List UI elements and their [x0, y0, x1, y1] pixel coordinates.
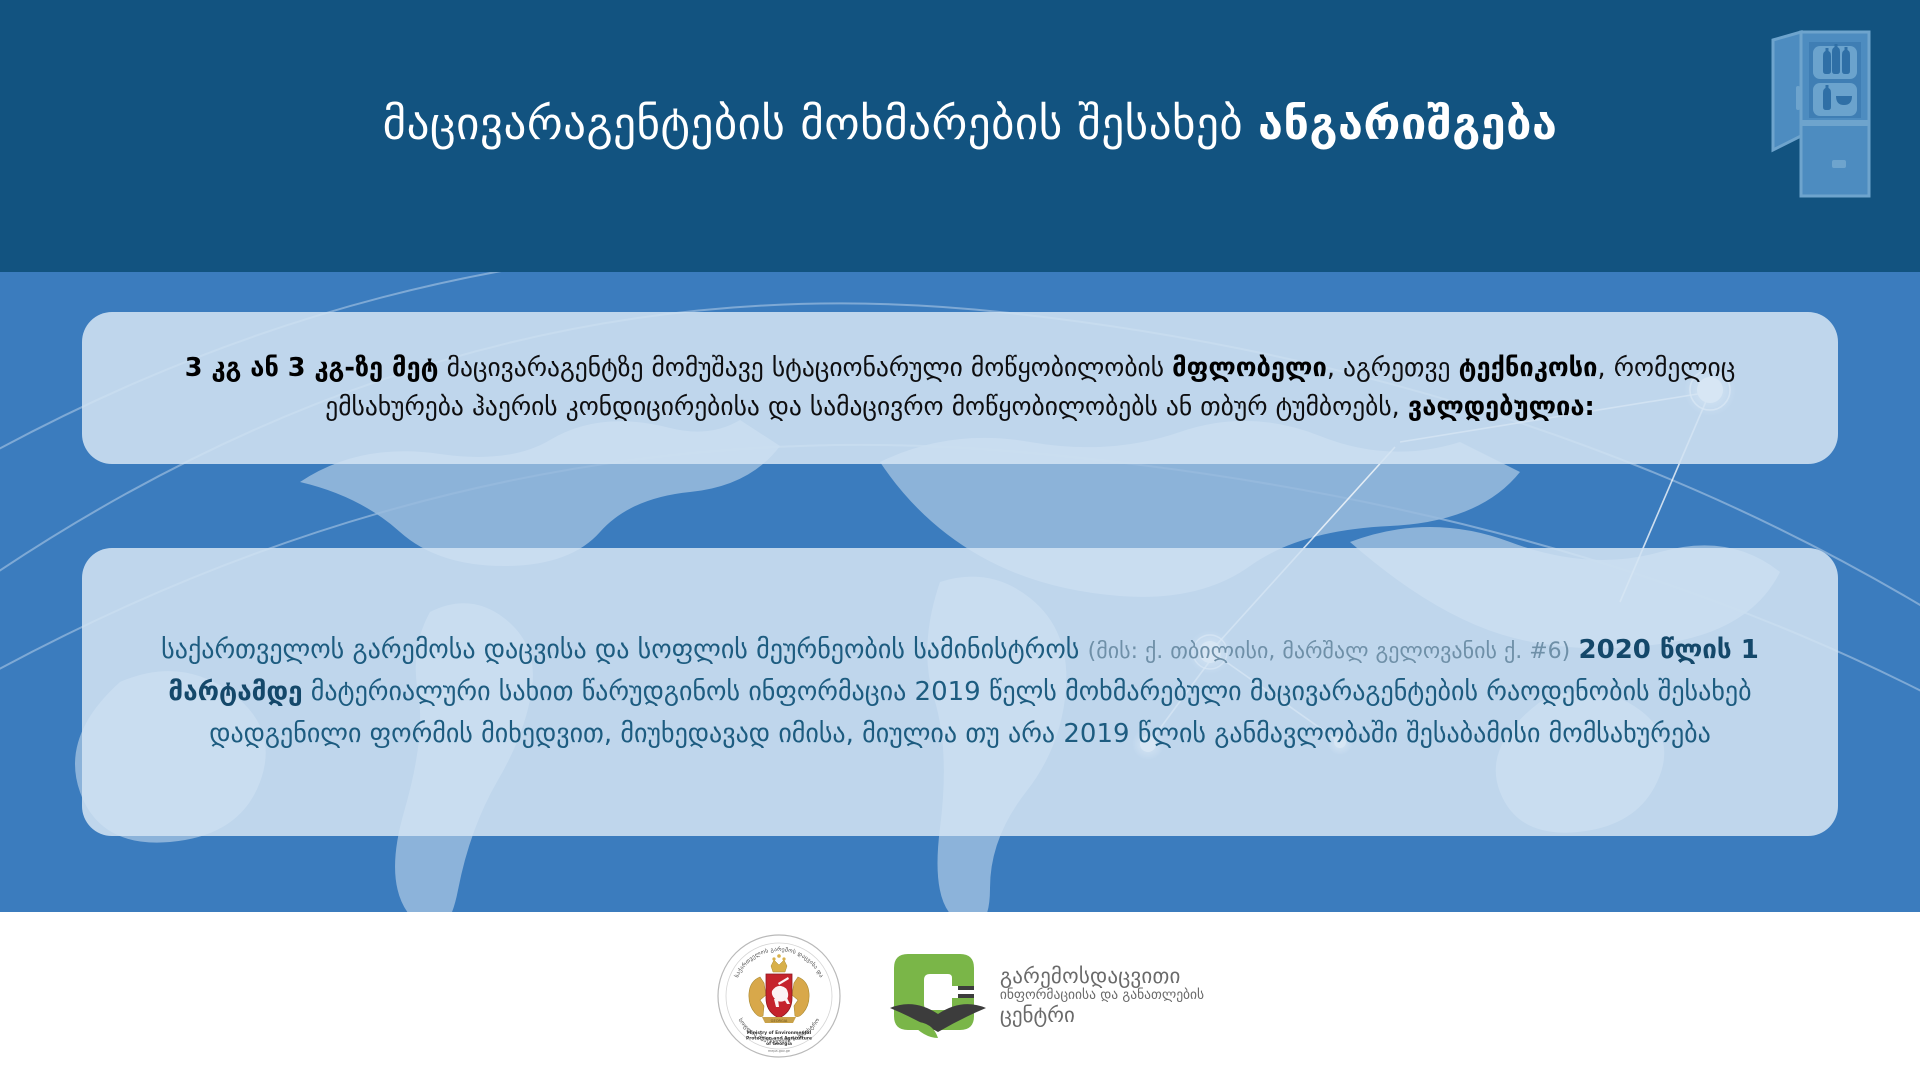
eiec-line-2: ინფორმაციისა და განათლების: [1000, 988, 1204, 1003]
requirement-card: 3 კგ ან 3 კგ-ზე მეტ მაცივარაგენტზე მომუშ…: [82, 312, 1838, 464]
footer-logos: საქართველოს გარემოს დაცვისა და სოფლის მე…: [0, 912, 1920, 1080]
instruction-seg-1: საქართველოს გარემოსა დაცვისა და სოფლის მ…: [161, 635, 1087, 665]
page-title-bold: ანგარიშგება: [1258, 97, 1557, 150]
page-title-regular: მაცივარაგენტების მოხმარების შესახებ: [383, 97, 1258, 150]
header-banner: მაცივარაგენტების მოხმარების შესახებ ანგა…: [0, 0, 1920, 272]
eiec-line-1: გარემოსდაცვითი: [1000, 965, 1204, 989]
requirement-technician: ტექნიკოსი: [1459, 353, 1598, 383]
ministry-seal-logo: საქართველოს გარემოს დაცვისა და სოფლის მე…: [716, 933, 842, 1059]
requirement-obligation: ვალდებულია:: [1408, 392, 1595, 422]
eiec-line-3: ცენტრი: [1000, 1004, 1204, 1028]
instruction-seg-2: [1570, 635, 1578, 665]
page-title: მაცივარაგენტების მოხმარების შესახებ ანგა…: [0, 96, 1920, 152]
seal-line-1: Ministry of Environmental: [747, 1030, 812, 1036]
requirement-threshold: 3 კგ ან 3 კგ-ზე მეტ: [185, 353, 439, 383]
eiec-book-leaf-icon: [886, 948, 990, 1044]
seal-ribbon-text: GEORGIA: [771, 1019, 788, 1023]
requirement-owner: მფლობელი: [1172, 353, 1327, 383]
seal-line-3: of Georgia: [766, 1041, 792, 1047]
eiec-logo: გარემოსდაცვითი ინფორმაციისა და განათლები…: [886, 948, 1204, 1044]
eiec-logo-text: გარემოსდაცვითი ინფორმაციისა და განათლები…: [1000, 965, 1204, 1027]
requirement-seg-2: , აგრეთვე: [1327, 353, 1459, 383]
seal-line-4: mepa.gov.ge: [768, 1049, 790, 1053]
seal-line-2: Protection and Agriculture: [746, 1036, 812, 1042]
requirement-card-text: 3 კგ ან 3 კგ-ზე მეტ მაცივარაგენტზე მომუშ…: [82, 349, 1838, 427]
requirement-seg-1: მაცივარაგენტზე მომუშავე სტაციონარული მოწ…: [439, 353, 1173, 383]
ministry-address: (მის: ქ. თბილისი, მარშალ გელოვანის ქ. #6…: [1088, 639, 1571, 664]
instruction-card-text: საქართველოს გარემოსა დაცვისა და სოფლის მ…: [82, 629, 1838, 755]
instruction-seg-3: მატერიალური სახით წარუდგინოს ინფორმაცია …: [209, 677, 1751, 749]
instruction-card: საქართველოს გარემოსა დაცვისა და სოფლის მ…: [82, 548, 1838, 836]
refrigerator-icon: [1768, 28, 1873, 200]
